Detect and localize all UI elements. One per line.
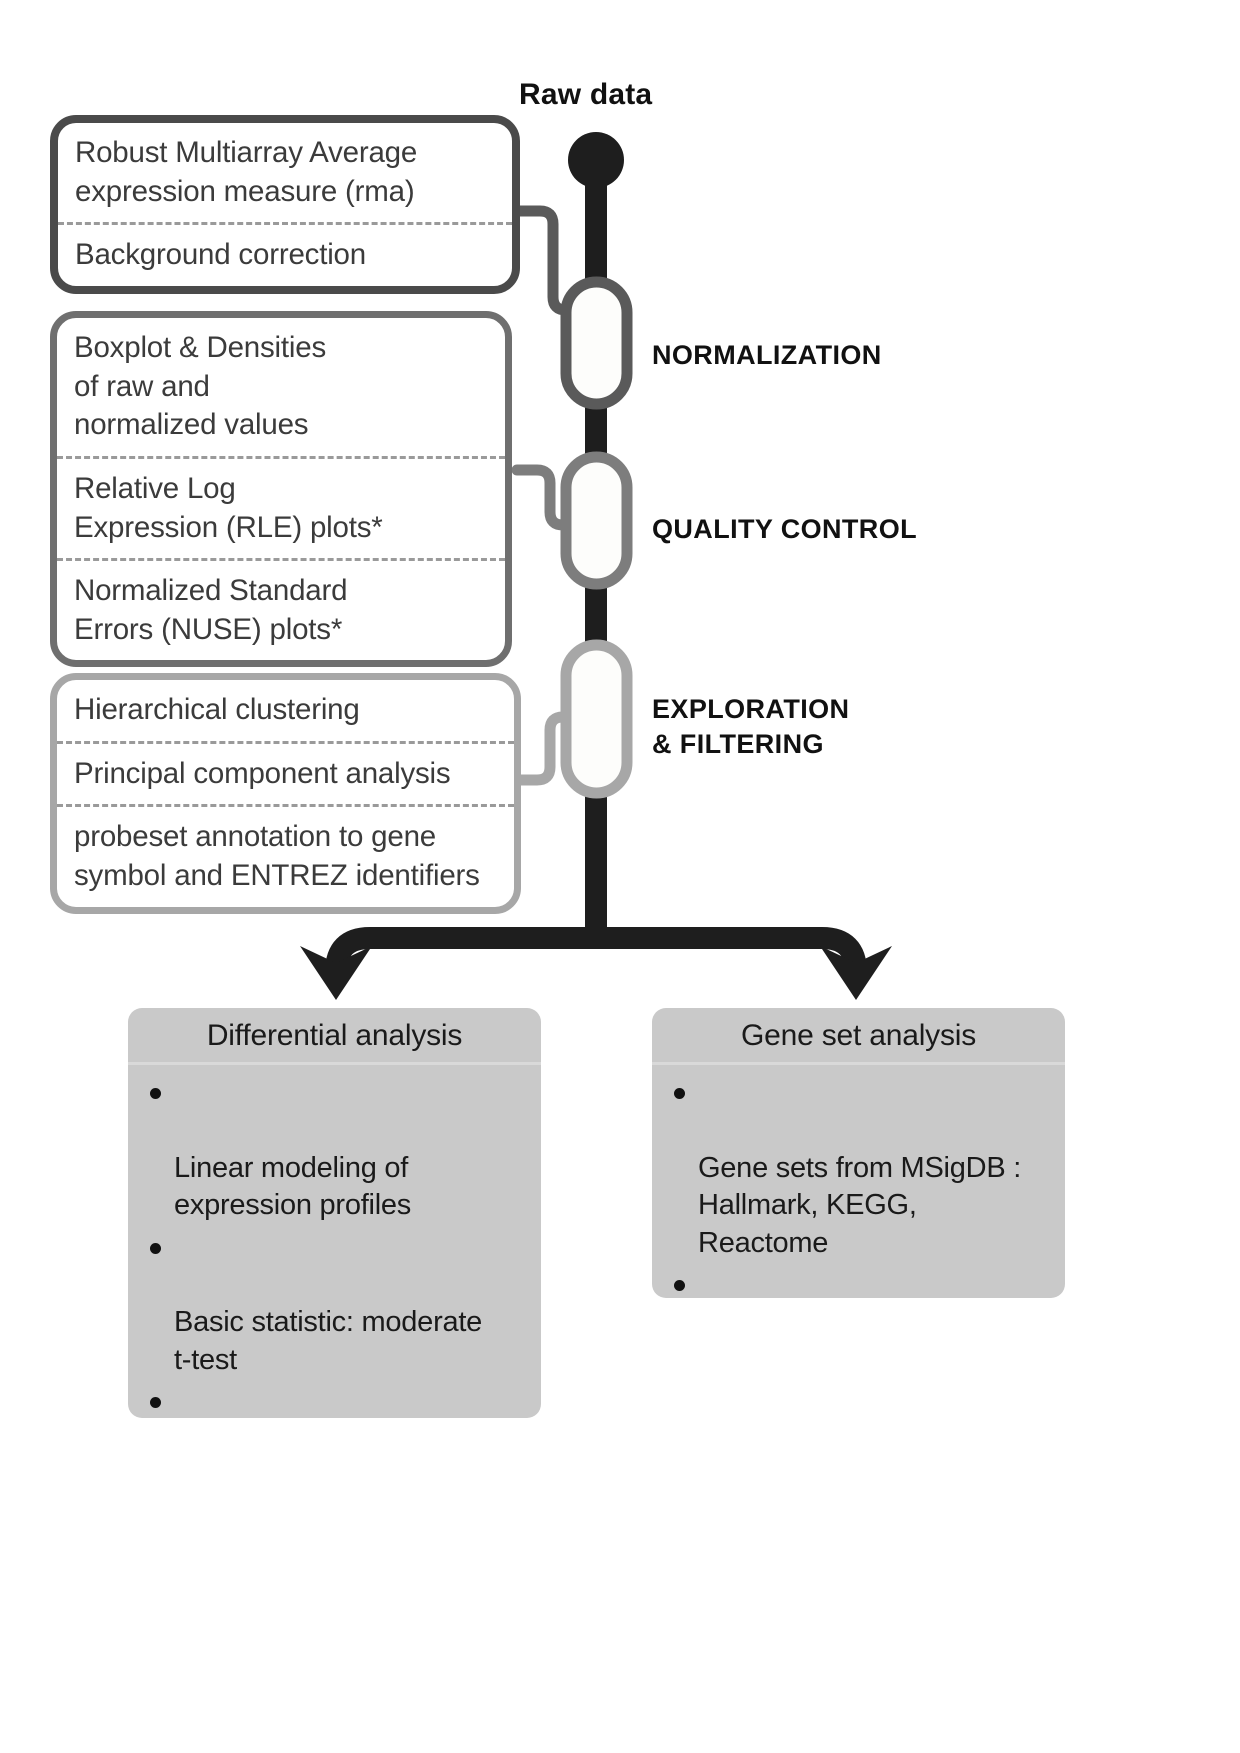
stage-card-item: Boxplot & Densities of raw and normalize… <box>57 318 505 456</box>
bullet-icon <box>150 1243 161 1254</box>
bullet-icon <box>150 1397 161 1408</box>
stage-card-item: Background correction <box>58 222 512 286</box>
outcome-panel-gene-set-analysis[interactable]: Gene set analysis Gene sets from MSigDB … <box>652 1008 1065 1298</box>
list-item: Multiple testing correstion of p-value u… <box>146 1384 527 1418</box>
branch-bar <box>336 938 856 972</box>
outcome-panel-differential-analysis[interactable]: Differential analysis Linear modeling of… <box>128 1008 541 1418</box>
list-item-text: Basic statistic: moderate t-test <box>174 1306 482 1375</box>
panel-bullet-list: Linear modeling of expression profiles B… <box>128 1065 541 1418</box>
stage-label-exploration-filtering: EXPLORATION & FILTERING <box>652 692 849 761</box>
raw-data-title: Raw data <box>519 78 652 112</box>
stage-card-normalization[interactable]: Robust Multiarray Average expression mea… <box>50 115 520 294</box>
workflow-diagram: Raw data Robust Multiarray Average expre… <box>0 0 1240 1753</box>
normalization-node-group <box>520 211 627 404</box>
bullet-icon <box>150 1088 161 1099</box>
list-item: Gene sets from MSigDB : Hallmark, KEGG, … <box>670 1075 1051 1262</box>
list-item: Linear modeling of expression profiles <box>146 1075 527 1225</box>
quality-control-node-group <box>517 457 627 584</box>
list-item-text: Gene sets from MSigDB : Hallmark, KEGG, … <box>698 1152 1021 1259</box>
panel-bullet-list: Gene sets from MSigDB : Hallmark, KEGG, … <box>652 1065 1065 1298</box>
stage-label-quality-control: QUALITY CONTROL <box>652 512 917 547</box>
bullet-icon <box>674 1088 685 1099</box>
stage-card-item: Relative Log Expression (RLE) plots* <box>57 456 505 558</box>
branch-fork-group <box>300 938 892 1000</box>
stage-card-exploration-filtering[interactable]: Hierarchical clustering Principal compon… <box>50 673 521 914</box>
list-item: Gene set test using competitive method C… <box>670 1267 1051 1298</box>
bullet-icon <box>674 1280 685 1291</box>
raw-data-node <box>568 132 624 188</box>
stage-card-item: Robust Multiarray Average expression mea… <box>58 123 512 222</box>
panel-title: Differential analysis <box>128 1008 541 1065</box>
stage-card-item: probeset annotation to gene symbol and E… <box>57 804 514 906</box>
normalization-node <box>566 282 627 404</box>
quality-control-node <box>566 457 627 584</box>
stage-card-item: Hierarchical clustering <box>57 680 514 741</box>
exploration-node-group <box>517 645 627 793</box>
exploration-node <box>566 645 627 793</box>
stage-card-item: Principal component analysis <box>57 741 514 805</box>
list-item-text: Linear modeling of expression profiles <box>174 1152 411 1221</box>
list-item: Basic statistic: moderate t-test <box>146 1230 527 1380</box>
stage-card-quality-control[interactable]: Boxplot & Densities of raw and normalize… <box>50 311 512 667</box>
stage-label-normalization: NORMALIZATION <box>652 338 882 373</box>
panel-title: Gene set analysis <box>652 1008 1065 1065</box>
stage-card-item: Normalized Standard Errors (NUSE) plots* <box>57 558 505 660</box>
